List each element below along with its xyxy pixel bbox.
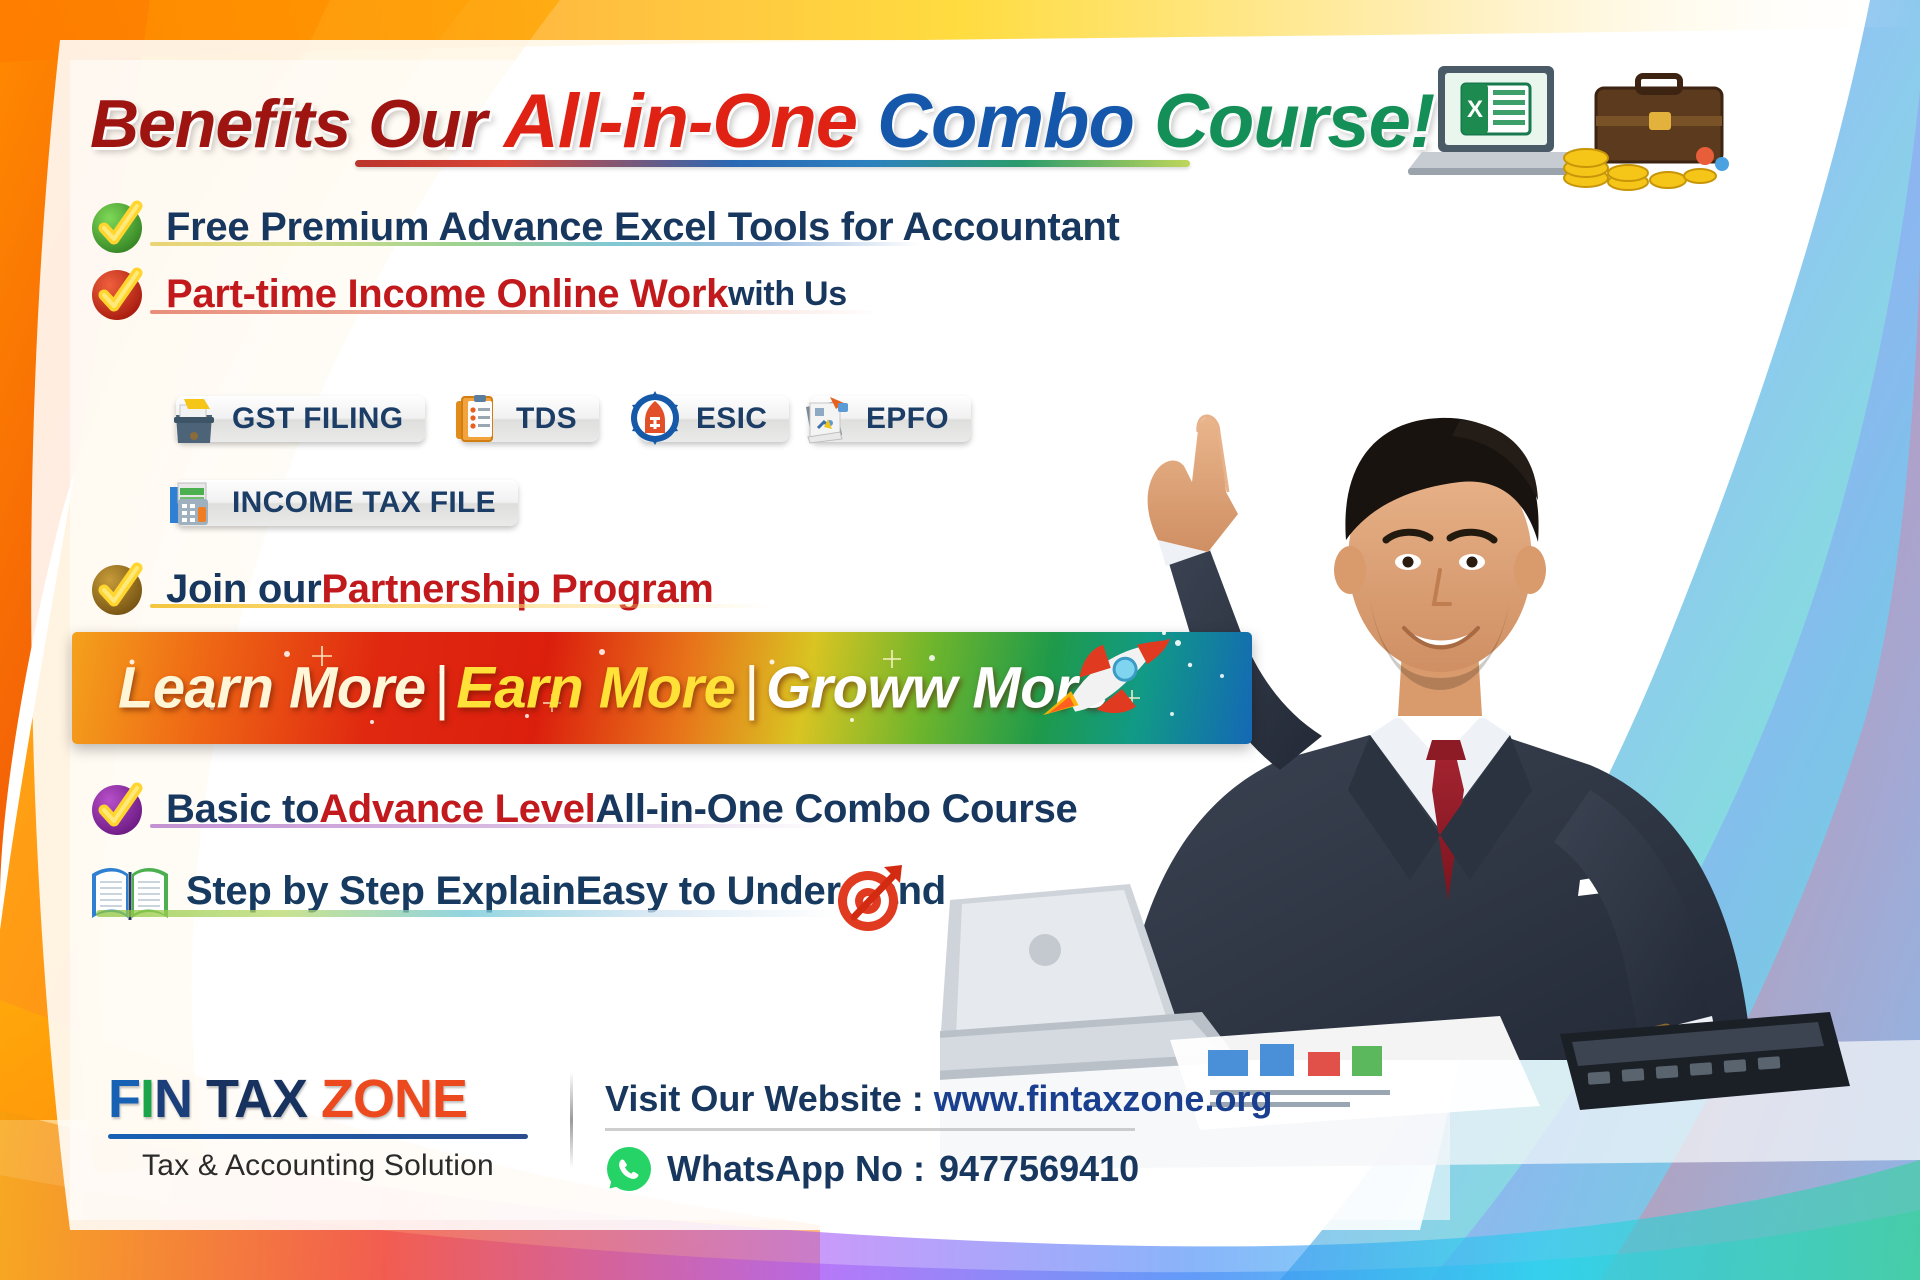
whatsapp-line: WhatsApp No : 9477569410 <box>605 1145 1272 1193</box>
service-pill-label: ESIC <box>696 402 767 436</box>
page-title: Benefits Our All-in-One Combo Course! <box>90 78 1434 165</box>
benefit-row-excel-tools: Free Premium Advance Excel Tools for Acc… <box>90 198 1120 256</box>
benefit-row-basic-to-advance: Basic to Advance Level All-in-One Combo … <box>90 780 1077 838</box>
service-pill-gst-filing[interactable]: GST FILING <box>176 396 425 442</box>
contact-block: Visit Our Website : www.fintaxzone.org W… <box>605 1078 1272 1193</box>
benefit-underline-2 <box>150 310 880 314</box>
service-pill-esic[interactable]: ESIC <box>640 396 789 442</box>
footer-divider <box>570 1072 573 1168</box>
epfo-chart-icon <box>794 387 856 449</box>
headline-part-all-in-one: All-in-One <box>504 79 877 164</box>
logo-wordmark: FIN TAX ZONE <box>108 1068 528 1130</box>
laptop-excel-icon: X <box>1400 60 1740 210</box>
whatsapp-number[interactable]: 9477569410 <box>939 1148 1139 1190</box>
website-label: Visit Our Website : <box>605 1078 934 1119</box>
purple-check-circle-icon <box>90 780 148 838</box>
whatsapp-icon[interactable] <box>605 1145 653 1193</box>
service-pill-label: GST FILING <box>232 402 403 436</box>
learn-more-text: Learn More <box>118 656 426 721</box>
benefit-label-step-by-step: Step by Step Explain <box>186 869 576 914</box>
gold-check-circle-icon <box>90 560 148 618</box>
file-drawer-icon <box>160 387 222 449</box>
benefit-label-with-us: with Us <box>728 275 847 314</box>
service-pill-income-tax-file[interactable]: INCOME TAX FILE <box>176 480 518 526</box>
headline-underline <box>355 160 1190 167</box>
clipboard-checklist-icon <box>444 387 506 449</box>
logo-tagline: Tax & Accounting Solution <box>108 1149 528 1183</box>
red-check-circle-icon <box>90 265 148 323</box>
website-url[interactable]: www.fintaxzone <box>934 1078 1205 1119</box>
target-arrow-icon <box>830 855 912 937</box>
benefit-underline-5 <box>96 910 836 917</box>
service-pill-label: TDS <box>516 402 577 436</box>
service-pill-tds[interactable]: TDS <box>460 396 599 442</box>
service-pill-label: EPFO <box>866 402 949 436</box>
benefit-underline-1 <box>150 242 920 246</box>
headline-part-course: Course! <box>1154 79 1434 164</box>
benefit-row-part-time-income: Part-time Income Online Work with Us <box>90 265 847 323</box>
website-tld[interactable]: .org <box>1204 1078 1272 1119</box>
green-check-circle-icon <box>90 198 148 256</box>
svg-text:X: X <box>1467 96 1483 123</box>
esic-emblem-icon <box>624 387 686 449</box>
benefit-underline-4 <box>150 824 830 828</box>
earn-more-text: Earn More <box>456 656 735 721</box>
separator-1: | <box>426 656 457 721</box>
contact-divider <box>605 1128 1135 1131</box>
brand-logo: FIN TAX ZONE Tax & Accounting Solution <box>108 1068 528 1183</box>
service-pill-label: INCOME TAX FILE <box>232 486 496 520</box>
headline-part-benefits-our: Benefits Our <box>90 86 504 162</box>
website-line: Visit Our Website : www.fintaxzone.org <box>605 1078 1272 1120</box>
logo-letter-f: F <box>108 1069 140 1129</box>
learn-earn-grow-text: Learn More|Earn More|Groww More <box>118 655 1109 722</box>
logo-word-zone: ZONE <box>321 1069 467 1129</box>
rocket-icon <box>1028 625 1198 750</box>
service-pill-epfo[interactable]: EPFO <box>810 396 971 442</box>
whatsapp-label: WhatsApp No : <box>667 1148 925 1190</box>
separator-2: | <box>735 656 766 721</box>
logo-letter-n: N <box>154 1069 192 1129</box>
benefit-underline-3 <box>150 604 770 608</box>
logo-underline <box>108 1134 528 1139</box>
logo-word-tax: TAX <box>192 1069 321 1129</box>
benefit-row-partnership-program: Join our Partnership Program <box>90 560 714 618</box>
headline-part-combo: Combo <box>877 79 1154 164</box>
calculator-folder-icon <box>160 471 222 533</box>
logo-letter-i: I <box>140 1069 154 1129</box>
